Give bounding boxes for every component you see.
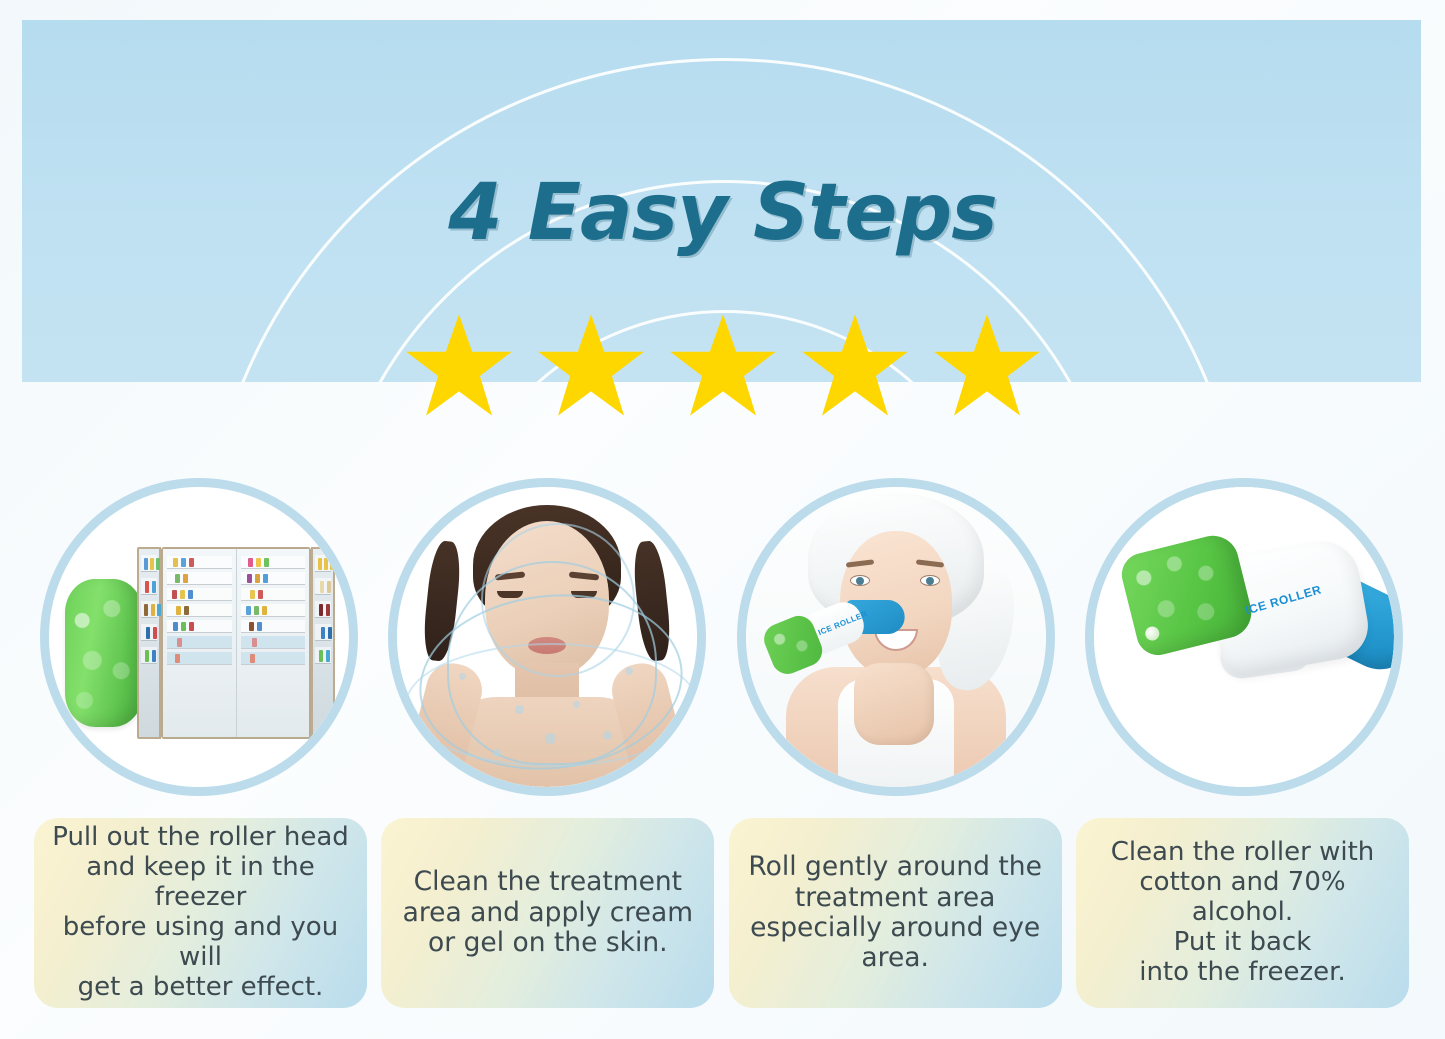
green-roller-head-icon [65, 579, 143, 727]
step-image-1 [40, 478, 358, 796]
water-splash-4 [405, 643, 697, 767]
eye-right [920, 575, 940, 586]
caption-text-3: Roll gently around the treatment area es… [748, 852, 1041, 974]
refrigerator-icon [161, 547, 311, 739]
scene-roller-and-fridge [49, 487, 349, 787]
step-image-2 [388, 478, 706, 796]
fridge-compartment-left [163, 549, 237, 737]
caption-text-1: Pull out the roller head and keep it in … [48, 823, 353, 1002]
caption-text-4: Clean the roller with cotton and 70% alc… [1090, 838, 1395, 987]
caption-text-2: Clean the treatment area and apply cream… [403, 867, 693, 958]
step-image-row: ICE ROLLER ICE ROLLER [22, 478, 1421, 800]
scene-using-roller: ICE ROLLER [746, 487, 1046, 787]
hand-holding-roller [854, 663, 934, 745]
fridge-bin [315, 647, 331, 664]
scene-product-closeup: ICE ROLLER [1094, 487, 1394, 787]
page-title: 4 Easy Steps [0, 168, 1445, 258]
fridge-bin [315, 601, 331, 618]
fridge-bin [141, 578, 157, 595]
scene-face-wash [397, 487, 697, 787]
fridge-compartment-right [237, 549, 310, 737]
fridge-bin [315, 555, 331, 572]
step-caption-1: Pull out the roller head and keep it in … [34, 818, 367, 1008]
fridge-bin [141, 555, 157, 572]
step-caption-3: Roll gently around the treatment area es… [729, 818, 1062, 1008]
step-caption-2: Clean the treatment area and apply cream… [381, 818, 714, 1008]
fridge-door-left [137, 547, 161, 739]
fridge-bin [141, 647, 157, 664]
fridge-bin [315, 578, 331, 595]
eye-left [850, 575, 870, 586]
step-image-4: ICE ROLLER [1085, 478, 1403, 796]
step-caption-row: Pull out the roller head and keep it in … [22, 818, 1421, 1010]
fridge-bin [141, 624, 157, 641]
infographic-page: 4 Easy Steps [0, 0, 1445, 1039]
step-image-3: ICE ROLLER [737, 478, 1055, 796]
fridge-bin [141, 601, 157, 618]
fridge-body [161, 547, 311, 739]
step-caption-4: Clean the roller with cotton and 70% alc… [1076, 818, 1409, 1008]
fridge-bin [315, 624, 331, 641]
fridge-door-right [311, 547, 335, 739]
